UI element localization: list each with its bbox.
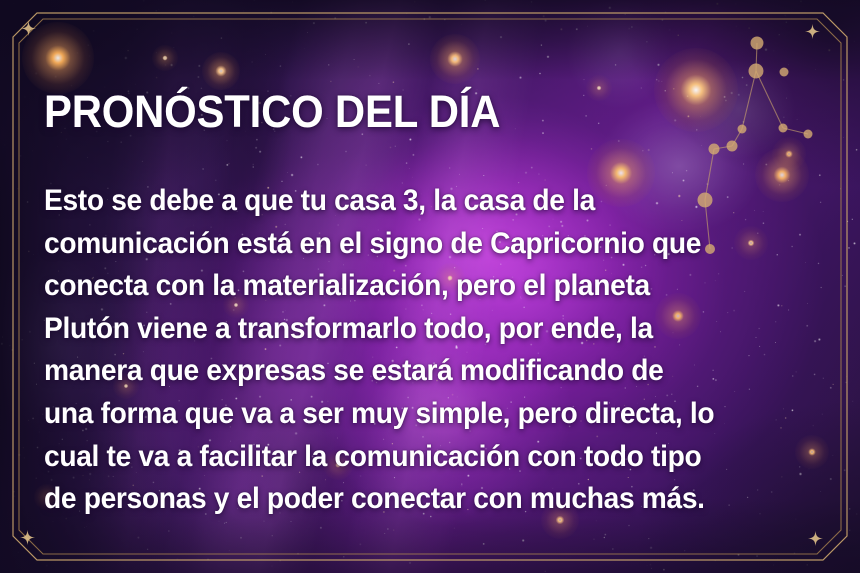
forecast-line: de personas y el poder conectar con much… (44, 478, 798, 521)
forecast-line: Esto se debe a que tu casa 3, la casa de… (44, 180, 798, 223)
horoscope-card: PRONÓSTICO DEL DÍA Esto se debe a que tu… (0, 0, 860, 573)
sparkle-icon (20, 530, 35, 545)
forecast-line: cual te va a facilitar la comunicación c… (44, 436, 798, 479)
forecast-line: Plutón viene a transformarlo todo, por e… (44, 308, 798, 351)
forecast-body-text: Esto se debe a que tu casa 3, la casa de… (44, 180, 834, 521)
sparkle-icon (21, 21, 36, 36)
forecast-line: manera que expresas se estará modificand… (44, 350, 798, 393)
card-content: PRONÓSTICO DEL DÍA Esto se debe a que tu… (44, 0, 834, 573)
forecast-line: comunicación está en el signo de Caprico… (44, 223, 798, 266)
page-title: PRONÓSTICO DEL DÍA (44, 89, 500, 134)
forecast-line: conecta con la materialización, pero el … (44, 265, 798, 308)
forecast-line: una forma que va a ser muy simple, pero … (44, 393, 798, 436)
